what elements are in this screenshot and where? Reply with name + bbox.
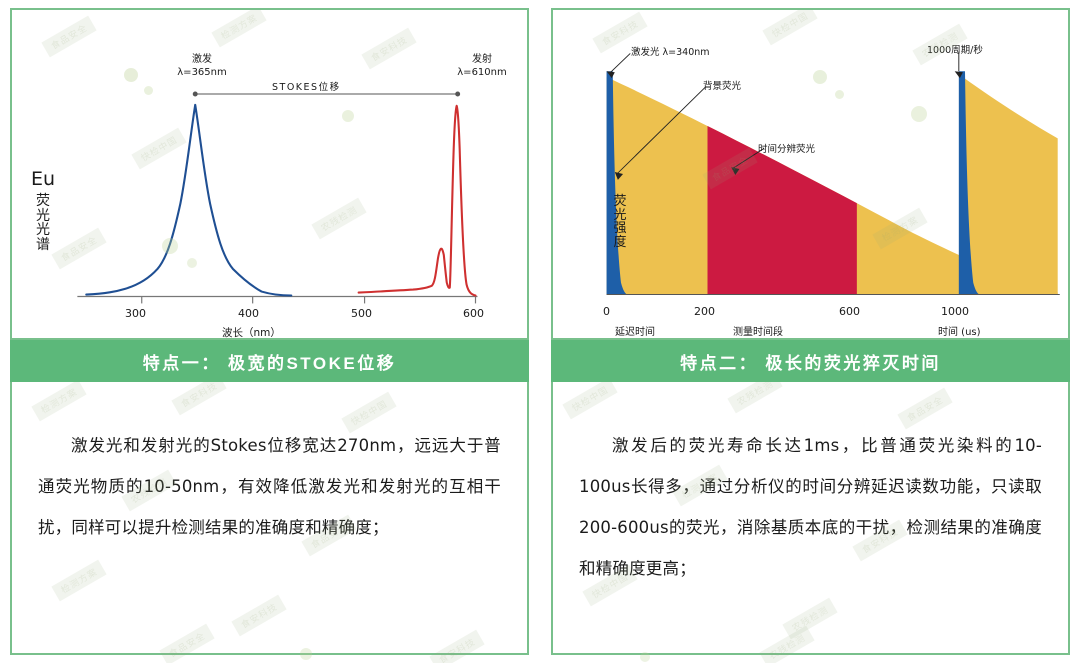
- xtick-500: 500: [351, 307, 372, 320]
- page-root: Eu 荧 光 光 谱 激发 λ=365nm 发射 λ=610nm STOK: [0, 0, 1080, 663]
- xtick-600: 600: [463, 307, 484, 320]
- excitation-curve: [86, 105, 291, 296]
- text-card-feature-one: 激发光和发射光的Stokes位移宽达270nm，远远大于普通荧光物质的10-50…: [10, 382, 529, 655]
- chart-y-axis-title: 荧 光 强 度: [609, 195, 631, 250]
- measurement-window-region: [708, 69, 857, 296]
- watermark-tag: 食安科技: [231, 595, 286, 637]
- chart-y-axis-title: Eu 荧 光 光 谱: [28, 170, 58, 253]
- stokes-chart-card: Eu 荧 光 光 谱 激发 λ=365nm 发射 λ=610nm STOK: [10, 8, 529, 340]
- x-axis-title: 时间 (us): [938, 323, 981, 338]
- measure-window-caption: 测量时间段: [733, 323, 783, 338]
- xtick-300: 300: [125, 307, 146, 320]
- watermark-tag: 农残检测: [727, 382, 782, 413]
- watermark-tag: 农残检测: [782, 598, 837, 640]
- xtick-200: 200: [694, 305, 715, 318]
- stokes-shift-label: STOKES位移: [272, 79, 341, 93]
- watermark-tag: 快检中国: [562, 382, 617, 419]
- watermark-tag: 检测方案: [51, 560, 106, 602]
- decay-area-amber-cycle2: [963, 77, 1058, 294]
- watermark-tag: 食安科技: [171, 382, 226, 415]
- background-fluorescence-annotation: 背景荧光: [703, 78, 741, 92]
- banner-feature-one: 特点一： 极宽的STOKE位移: [10, 340, 529, 382]
- x-axis-ticks: [142, 297, 476, 304]
- text-card-feature-two: 激发后的荧光寿命长达1ms，比普通荧光染料的10-100us长得多，通过分析仪的…: [551, 382, 1070, 655]
- panel-stokes: Eu 荧 光 光 谱 激发 λ=365nm 发射 λ=610nm STOK: [10, 8, 529, 655]
- decay-chart-svg: [553, 10, 1068, 338]
- panel-lifetime: 荧 光 强 度 激发光 λ=340nm 背景荧光 时间分辨荧光 1000周期/秒…: [551, 8, 1070, 655]
- stokes-chart-inner: Eu 荧 光 光 谱 激发 λ=365nm 发射 λ=610nm STOK: [12, 10, 527, 338]
- xtick-400: 400: [238, 307, 259, 320]
- emission-curve: [359, 106, 476, 296]
- banner-feature-one-label: 特点一： 极宽的STOKE位移: [143, 349, 396, 374]
- banner-feature-two-label: 特点二： 极长的荧光猝灭时间: [680, 349, 941, 374]
- feature-one-body: 激发光和发射光的Stokes位移宽达270nm，远远大于普通荧光物质的10-50…: [38, 425, 501, 549]
- cycles-annotation: 1000周期/秒: [927, 42, 983, 56]
- delay-time-caption: 延迟时间: [615, 323, 655, 338]
- x-axis-title: 波长（nm）: [222, 325, 281, 340]
- watermark-tag: 食品安全: [897, 388, 952, 430]
- emission-peak-label: 发射 λ=610nm: [442, 50, 522, 78]
- xtick-1000: 1000: [941, 305, 969, 318]
- excitation-annotation: 激发光 λ=340nm: [631, 44, 710, 58]
- trf-annotation: 时间分辨荧光: [758, 141, 815, 155]
- excitation-peak-label: 激发 λ=365nm: [162, 50, 242, 78]
- lifetime-chart-inner: 荧 光 强 度 激发光 λ=340nm 背景荧光 时间分辨荧光 1000周期/秒…: [553, 10, 1068, 338]
- xtick-0: 0: [603, 305, 610, 318]
- feature-two-body: 激发后的荧光寿命长达1ms，比普通荧光染料的10-100us长得多，通过分析仪的…: [579, 425, 1042, 590]
- watermark-tag: 检测方案: [31, 382, 86, 421]
- banner-feature-two: 特点二： 极长的荧光猝灭时间: [551, 340, 1070, 382]
- xtick-600: 600: [839, 305, 860, 318]
- lifetime-chart-card: 荧 光 强 度 激发光 λ=340nm 背景荧光 时间分辨荧光 1000周期/秒…: [551, 8, 1070, 340]
